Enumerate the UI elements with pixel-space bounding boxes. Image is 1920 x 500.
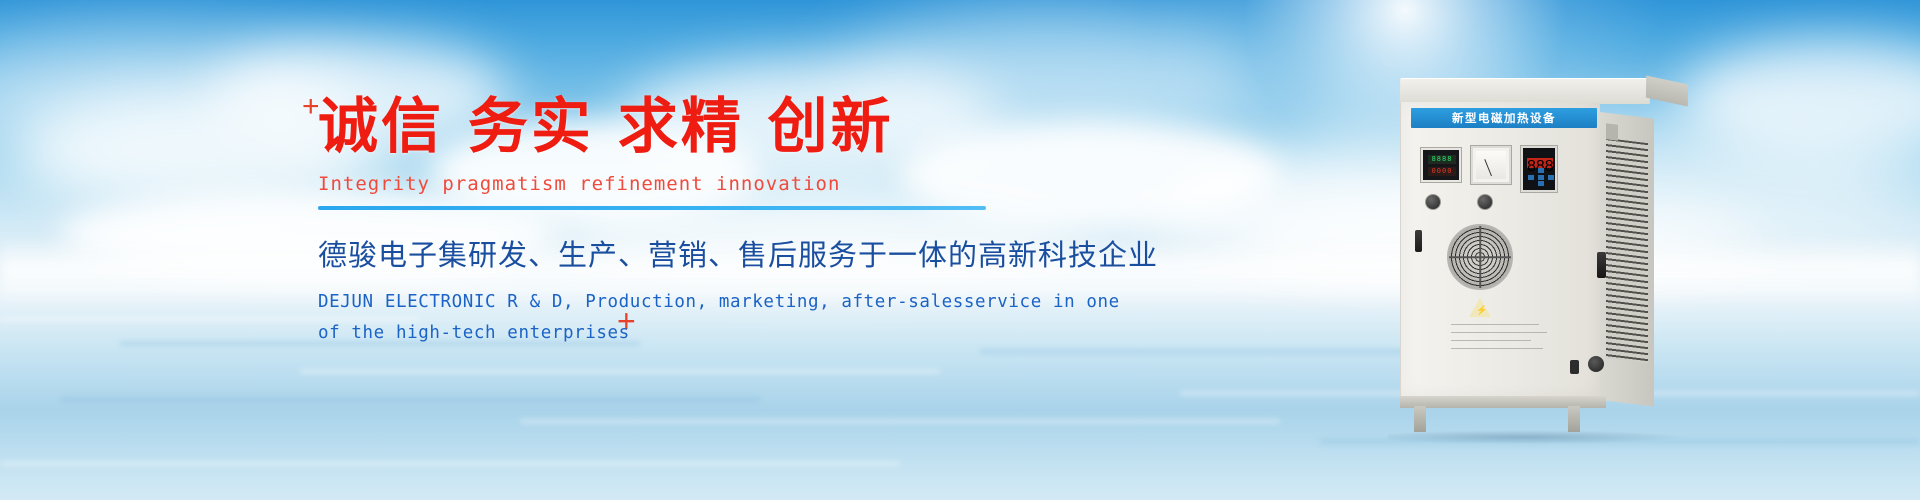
banner-copy: 诚信 务实 求精 创新 Integrity pragmatism refinem… bbox=[318, 96, 1078, 348]
machine-port bbox=[1570, 360, 1579, 374]
controller-display: 888 bbox=[1527, 158, 1553, 168]
description-english-line-1: DEJUN ELECTRONIC R & D, Production, mark… bbox=[318, 287, 1078, 318]
machine-knob-left[interactable] bbox=[1425, 194, 1441, 210]
machine-controller: 888 bbox=[1521, 146, 1557, 192]
divider-rule bbox=[318, 206, 986, 210]
controller-keypad bbox=[1528, 168, 1554, 186]
description-chinese: 德骏电子集研发、生产、营销、售后服务于一体的高新科技企业 bbox=[318, 232, 1078, 274]
machine-digital-meter: 8888 0000 bbox=[1421, 148, 1461, 182]
machine-vent-grille bbox=[1606, 138, 1648, 363]
machine-vent-small bbox=[1606, 123, 1618, 140]
machine-spec-text bbox=[1451, 324, 1561, 356]
product-machine: 新型电磁加热设备 8888 0000 888 bbox=[1392, 78, 1692, 418]
plus-decoration-icon: + bbox=[302, 92, 320, 122]
machine-brand-label: 新型电磁加热设备 bbox=[1411, 108, 1597, 128]
description-english-line-2: of the high-tech enterprises bbox=[318, 318, 1078, 349]
machine-analog-gauge bbox=[1471, 146, 1511, 184]
headline-chinese: 诚信 务实 求精 创新 bbox=[318, 96, 1078, 159]
machine-foot-right bbox=[1568, 406, 1580, 432]
machine-latch bbox=[1415, 230, 1422, 252]
machine-warning-label-icon bbox=[1469, 298, 1491, 317]
hero-banner: + + 诚信 务实 求精 创新 Integrity pragmatism ref… bbox=[0, 0, 1920, 500]
meter-display-bottom: 0000 bbox=[1428, 167, 1456, 176]
description-english: DEJUN ELECTRONIC R & D, Production, mark… bbox=[318, 287, 1078, 348]
machine-front-panel: 新型电磁加热设备 8888 0000 888 bbox=[1400, 102, 1600, 398]
machine-foot-left bbox=[1414, 406, 1426, 432]
machine-knob-right[interactable] bbox=[1477, 194, 1493, 210]
headline-english: Integrity pragmatism refinement innovati… bbox=[318, 173, 1078, 195]
machine-door-handle bbox=[1597, 252, 1606, 278]
machine-fan-grille-icon bbox=[1447, 224, 1513, 290]
machine-shadow bbox=[1388, 430, 1688, 444]
machine-power-socket bbox=[1588, 356, 1604, 372]
meter-display-top: 8888 bbox=[1428, 155, 1456, 164]
machine-top-cap bbox=[1400, 78, 1650, 104]
